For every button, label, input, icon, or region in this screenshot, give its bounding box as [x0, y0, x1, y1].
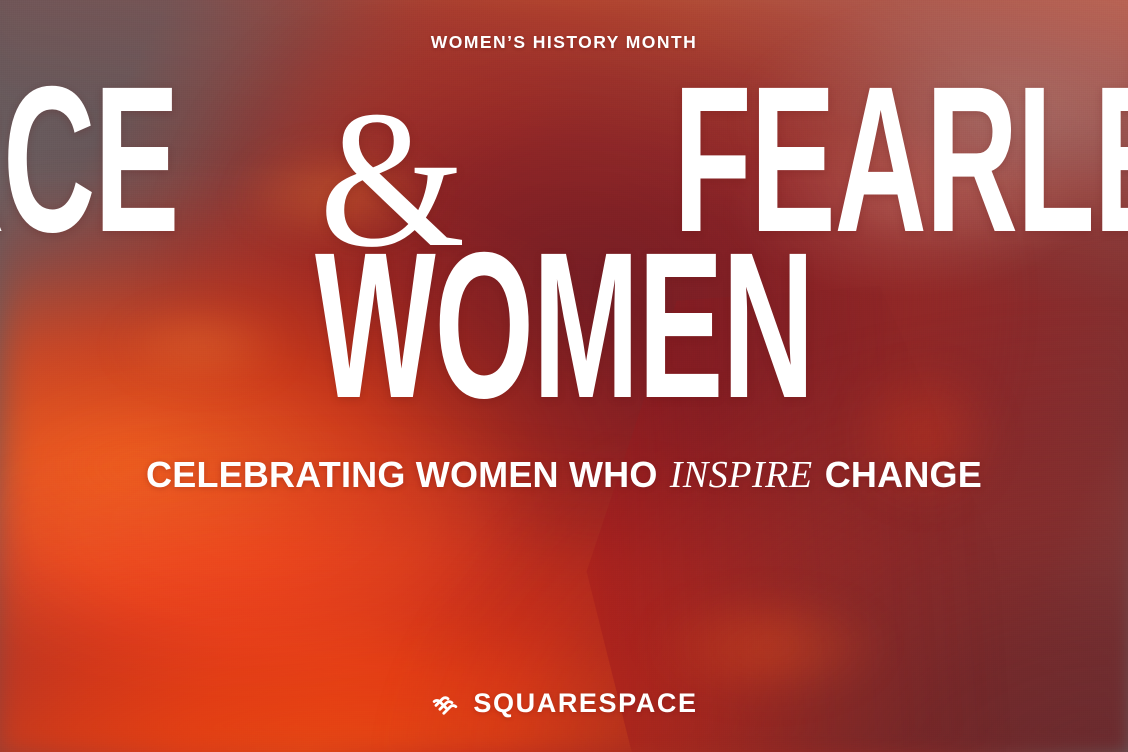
womens-history-month-poster: WOMEN’S HISTORY MONTH FIERCE & FEARLESS … — [0, 0, 1128, 752]
poster-content: WOMEN’S HISTORY MONTH FIERCE & FEARLESS … — [0, 0, 1128, 752]
tagline-before: CELEBRATING WOMEN WHO — [146, 454, 658, 495]
headline-word-women: WOMEN — [315, 243, 813, 409]
eyebrow-label: WOMEN’S HISTORY MONTH — [431, 32, 697, 53]
tagline-emphasis: INSPIRE — [668, 454, 815, 496]
headline: FIERCE & FEARLESS WOMEN — [0, 77, 1128, 409]
tagline-after: CHANGE — [825, 454, 982, 495]
tagline: CELEBRATING WOMEN WHO INSPIRE CHANGE — [146, 453, 982, 497]
headline-word-fierce: FIERCE — [0, 77, 178, 243]
